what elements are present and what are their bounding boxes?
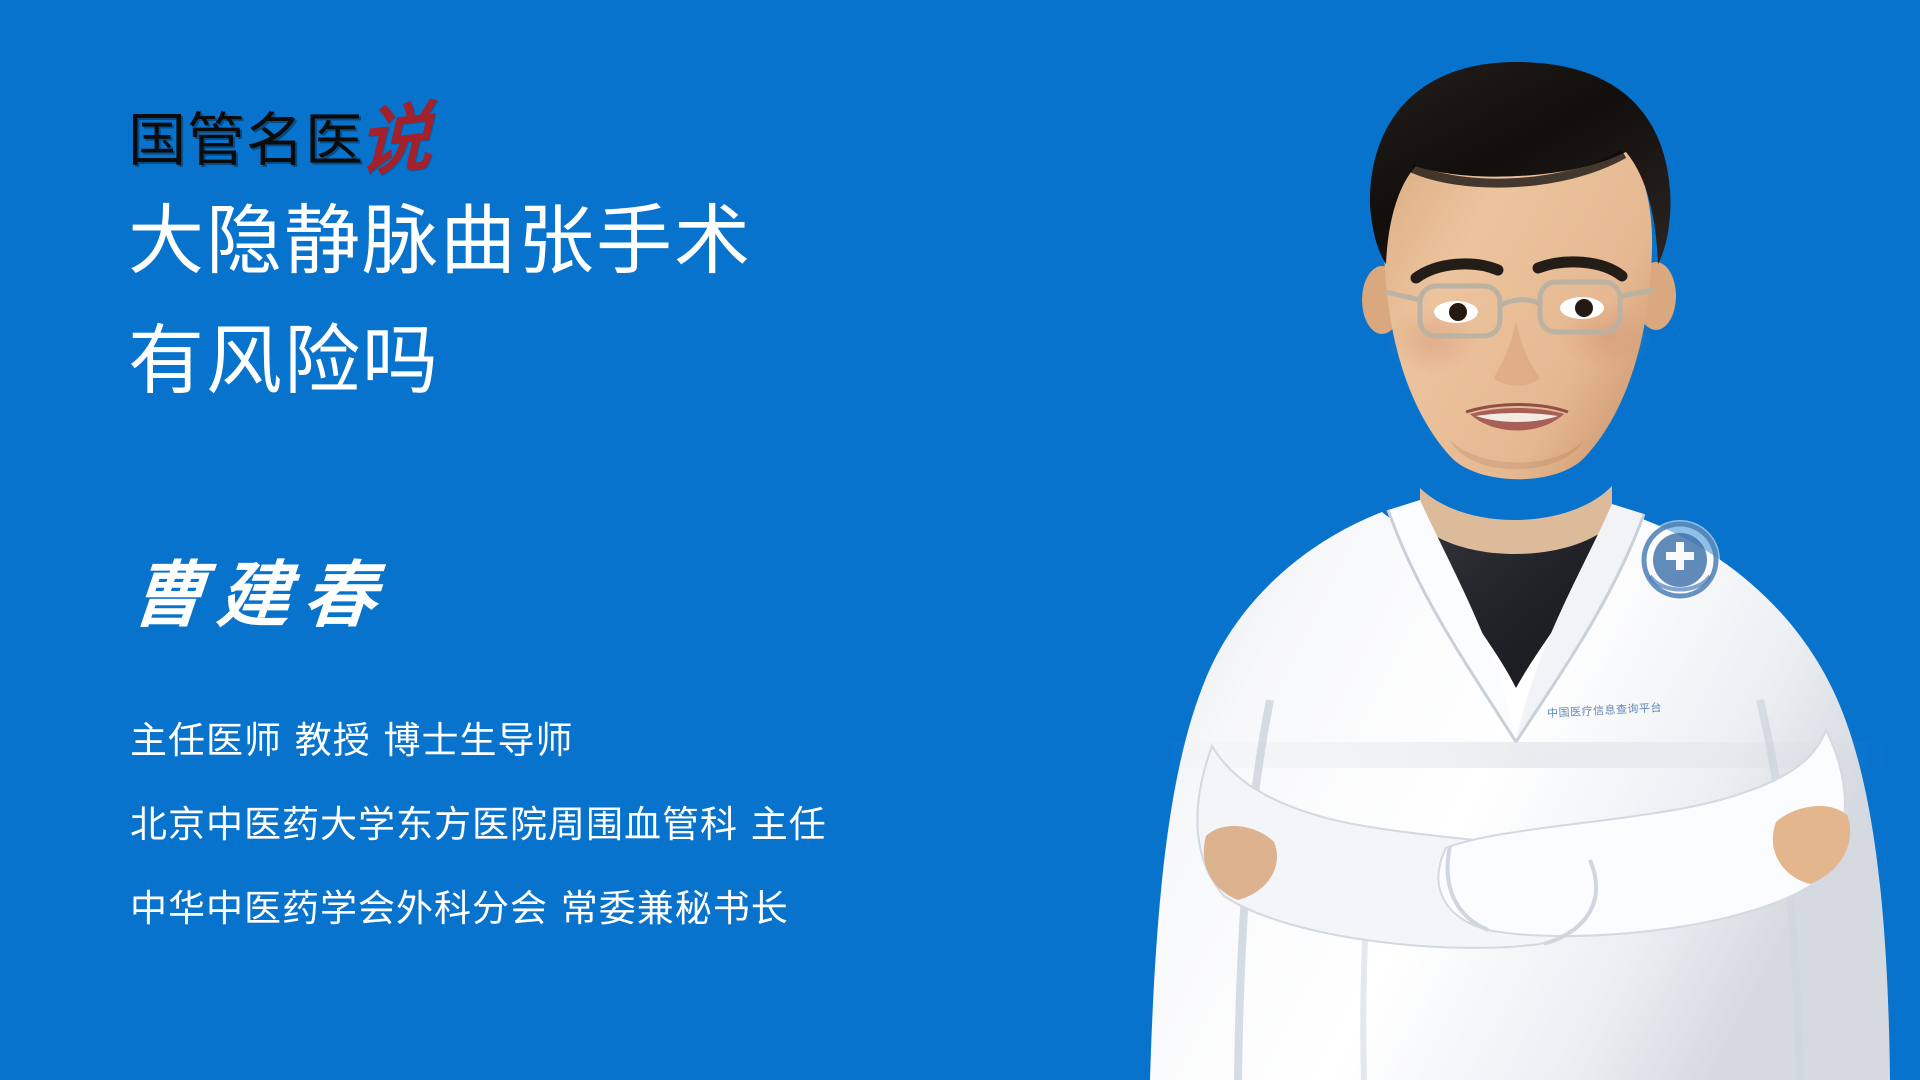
portrait-illustration bbox=[1120, 0, 1920, 1080]
pupil-right bbox=[1575, 299, 1593, 317]
coat-body bbox=[1150, 486, 1890, 1080]
doctor-name: 曹建春 bbox=[128, 552, 394, 638]
doctor-credentials: 主任医师 教授 博士生导师 北京中医药大学东方医院周围血管科 主任 中华中医药学… bbox=[130, 718, 1090, 931]
title-line-1: 大隐静脉曲张手术 bbox=[128, 195, 1078, 287]
program-logo-accent-text: 说 bbox=[358, 106, 432, 176]
program-logo-main-text: 国管名医 bbox=[128, 110, 364, 170]
head bbox=[1362, 62, 1676, 479]
coat-badge-emblem bbox=[1640, 520, 1720, 600]
title-line-2: 有风险吗 bbox=[128, 315, 1078, 407]
coat-shading-band bbox=[1150, 742, 1890, 768]
credential-line-1: 主任医师 教授 博士生导师 bbox=[130, 718, 1090, 763]
credential-line-2: 北京中医药大学东方医院周围血管科 主任 bbox=[130, 802, 1090, 847]
credential-line-3: 中华中医药学会外科分会 常委兼秘书长 bbox=[130, 886, 1090, 931]
program-logo: 国管名医 说 bbox=[128, 92, 432, 170]
page-title: 大隐静脉曲张手术 有风险吗 bbox=[128, 195, 1078, 407]
pupil-left bbox=[1449, 303, 1467, 321]
poster-canvas: 国管名医 说 大隐静脉曲张手术 有风险吗 曹建春 主任医师 教授 博士生导师 北… bbox=[0, 0, 1920, 1080]
doctor-portrait-photo bbox=[1120, 0, 1920, 1080]
text-column: 国管名医 说 大隐静脉曲张手术 有风险吗 曹建春 主任医师 教授 博士生导师 北… bbox=[0, 0, 1130, 1080]
